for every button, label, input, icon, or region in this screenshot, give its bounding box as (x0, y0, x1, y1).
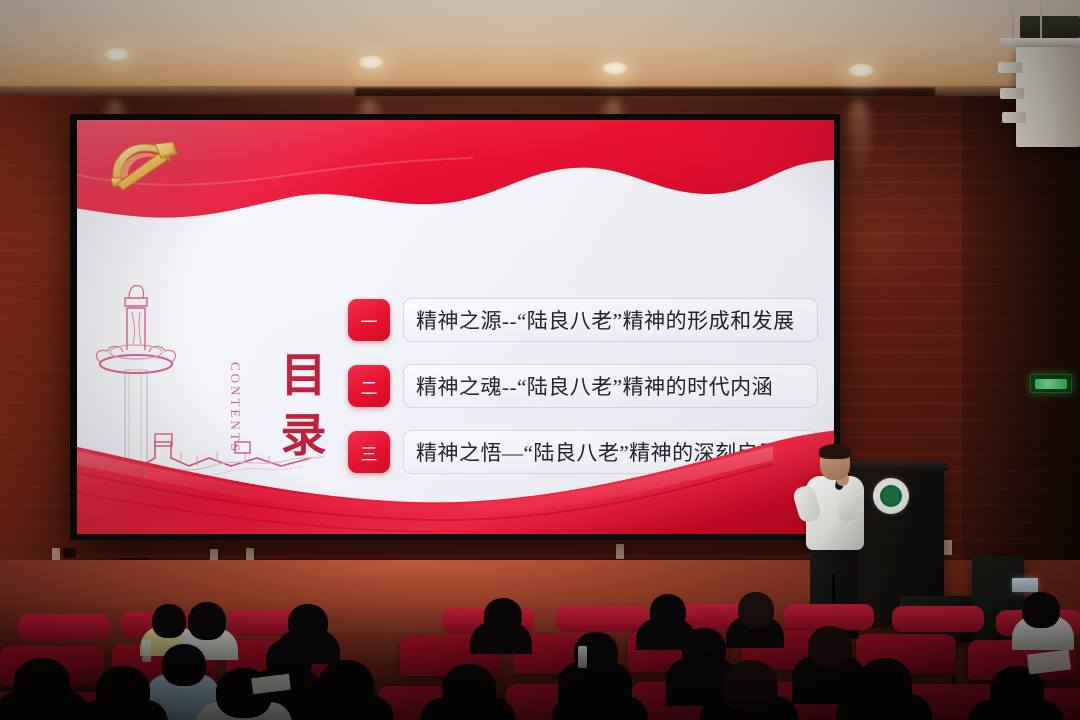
attendee-head (722, 660, 778, 712)
wall-outlet-5 (944, 540, 952, 555)
wall-panel-dark (63, 548, 76, 558)
attendee-head (216, 668, 272, 718)
right-wall-shadow (962, 96, 1080, 616)
attendee-head (858, 658, 912, 710)
agenda-row[interactable]: 一 精神之源--“陆良八老”精神的形成和发展 (348, 298, 818, 342)
ceiling-truss (1020, 16, 1080, 38)
ceiling (0, 0, 1080, 100)
ceiling-light-4 (848, 64, 874, 77)
attendee-head (808, 626, 852, 668)
green-circular-institution-emblem (873, 478, 909, 514)
attendee-head (162, 644, 206, 686)
speaker-wire-2 (1040, 0, 1042, 40)
attendee-head (1022, 592, 1060, 628)
speaker-wire-1 (1012, 0, 1014, 40)
attendee-head (188, 602, 226, 640)
ceiling-light-1 (104, 48, 130, 61)
attendee-head (152, 604, 186, 638)
agenda-item-text: 精神之魂--“陆良八老”精神的时代内涵 (416, 371, 773, 401)
line-array-speaker (1016, 47, 1080, 147)
agenda-number-badge: 一 (348, 299, 390, 341)
red-flag-banner (77, 120, 834, 226)
attendee-head (484, 598, 522, 634)
attendee-head (318, 660, 374, 712)
wall-light-reflection-4 (842, 100, 876, 180)
auditorium-photo: CONTENTS 目录 一 精神之源--“陆良八老”精神的形成和发展 二 精神之… (0, 0, 1080, 720)
device-display (1012, 578, 1038, 592)
water-bottle (142, 640, 151, 662)
presenter-hair (819, 444, 851, 459)
attendee-head (14, 658, 70, 708)
water-bottle (578, 646, 587, 668)
red-ribbon-wave (77, 406, 834, 534)
speaker-fin-1 (998, 62, 1022, 73)
seat-back (18, 614, 110, 640)
audience-seating (0, 600, 1080, 720)
emblem-inner (880, 485, 902, 507)
attendee-head (574, 662, 628, 712)
exit-sign-glow (1035, 379, 1067, 389)
presentation-slide[interactable]: CONTENTS 目录 一 精神之源--“陆良八老”精神的形成和发展 二 精神之… (77, 120, 834, 534)
ceiling-light-3 (602, 62, 628, 75)
agenda-row[interactable]: 二 精神之魂--“陆良八老”精神的时代内涵 (348, 364, 818, 408)
ceiling-light-2 (358, 56, 384, 69)
emergency-exit-sign (1030, 374, 1072, 393)
speaker-fin-3 (1002, 112, 1026, 123)
speaker-mount-bar (1000, 38, 1080, 47)
attendee-head (738, 592, 774, 628)
wall-outlet-4 (616, 544, 624, 559)
attendee-head (682, 628, 726, 670)
speaker-fin-2 (1000, 88, 1024, 99)
seat-back (892, 606, 984, 632)
agenda-item-box[interactable]: 精神之源--“陆良八老”精神的形成和发展 (403, 298, 818, 342)
agenda-number-badge: 二 (348, 365, 390, 407)
agenda-item-text: 精神之源--“陆良八老”精神的形成和发展 (416, 305, 795, 335)
hammer-and-sickle-emblem (97, 134, 185, 194)
attendee-head (650, 594, 686, 630)
attendee-head (288, 604, 328, 642)
attendee-head (96, 666, 150, 716)
seat-back (556, 606, 648, 632)
attendee-head (442, 664, 496, 714)
agenda-item-box[interactable]: 精神之魂--“陆良八老”精神的时代内涵 (403, 364, 818, 408)
